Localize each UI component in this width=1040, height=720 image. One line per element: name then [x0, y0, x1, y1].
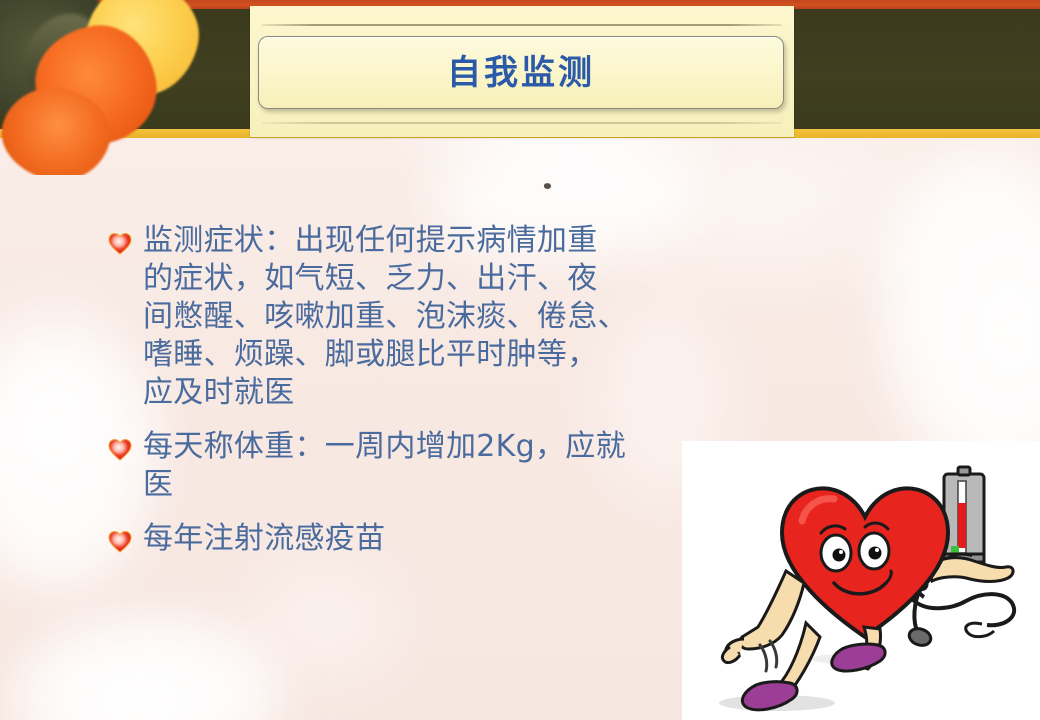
list-item: 每天称体重：一周内增加2Kg，应就 医 [108, 428, 678, 504]
title-panel: 自我监测 [250, 6, 794, 137]
title-box: 自我监测 [258, 36, 784, 109]
heart-bullet-icon [108, 232, 132, 255]
heart-bullet-icon [108, 438, 132, 461]
list-item-label: 每年注射流感疫苗 [143, 520, 385, 558]
title-rule-top [262, 24, 782, 26]
bullet-list: 监测症状：出现任何提示病情加重 的症状，如气短、乏力、出汗、夜 间憋醒、咳嗽加重… [108, 222, 678, 574]
illustration-panel [682, 441, 1040, 720]
list-item: 监测症状：出现任何提示病情加重 的症状，如气短、乏力、出汗、夜 间憋醒、咳嗽加重… [108, 222, 678, 412]
background-blob [250, 560, 400, 680]
list-item-label: 监测症状：出现任何提示病情加重 的症状，如气短、乏力、出汗、夜 间憋醒、咳嗽加重… [143, 222, 628, 412]
autumn-flower-decoration-icon [0, 0, 230, 175]
slide-root: 自我监测 监测症状： [0, 0, 1040, 720]
heart-bullet-icon [108, 530, 132, 553]
list-item-label: 每天称体重：一周内增加2Kg，应就 医 [143, 428, 626, 504]
cartoon-heart-blood-pressure-icon [682, 441, 1040, 720]
list-item: 每年注射流感疫苗 [108, 520, 678, 558]
page-title: 自我监测 [447, 56, 595, 90]
title-rule-bottom [262, 122, 782, 124]
